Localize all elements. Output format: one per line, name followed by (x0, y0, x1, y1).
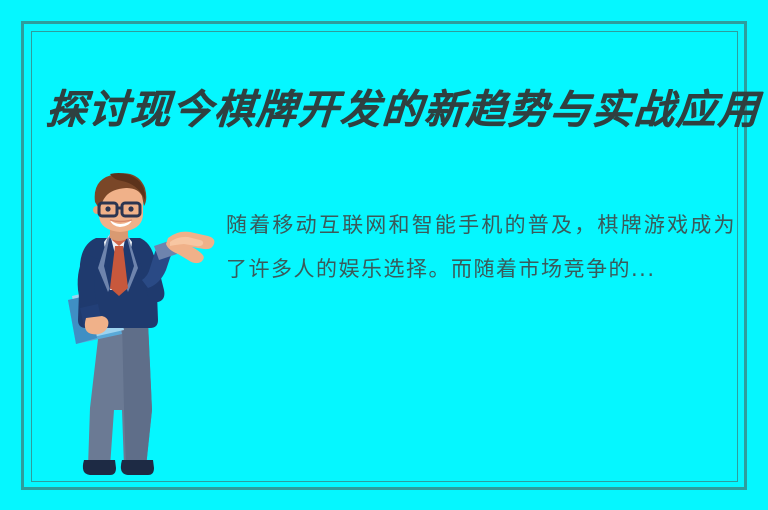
businessman-illustration (66, 172, 216, 477)
businessman-graphic (66, 172, 216, 477)
article-card: 探讨现今棋牌开发的新趋势与实战应用 随着移动互联网和智能手机的普及，棋牌游戏成为… (0, 0, 768, 510)
shoe-right (121, 460, 154, 475)
page-title: 探讨现今棋牌开发的新趋势与实战应用 (44, 85, 740, 137)
hand-right-open (166, 232, 214, 264)
trousers-shadow-right (122, 322, 152, 467)
article-excerpt: 随着移动互联网和智能手机的普及，棋牌游戏成为了许多人的娱乐选择。而随着市场竞争的… (226, 203, 736, 291)
shoe-left (83, 460, 116, 475)
trousers-fold (90, 322, 116, 467)
